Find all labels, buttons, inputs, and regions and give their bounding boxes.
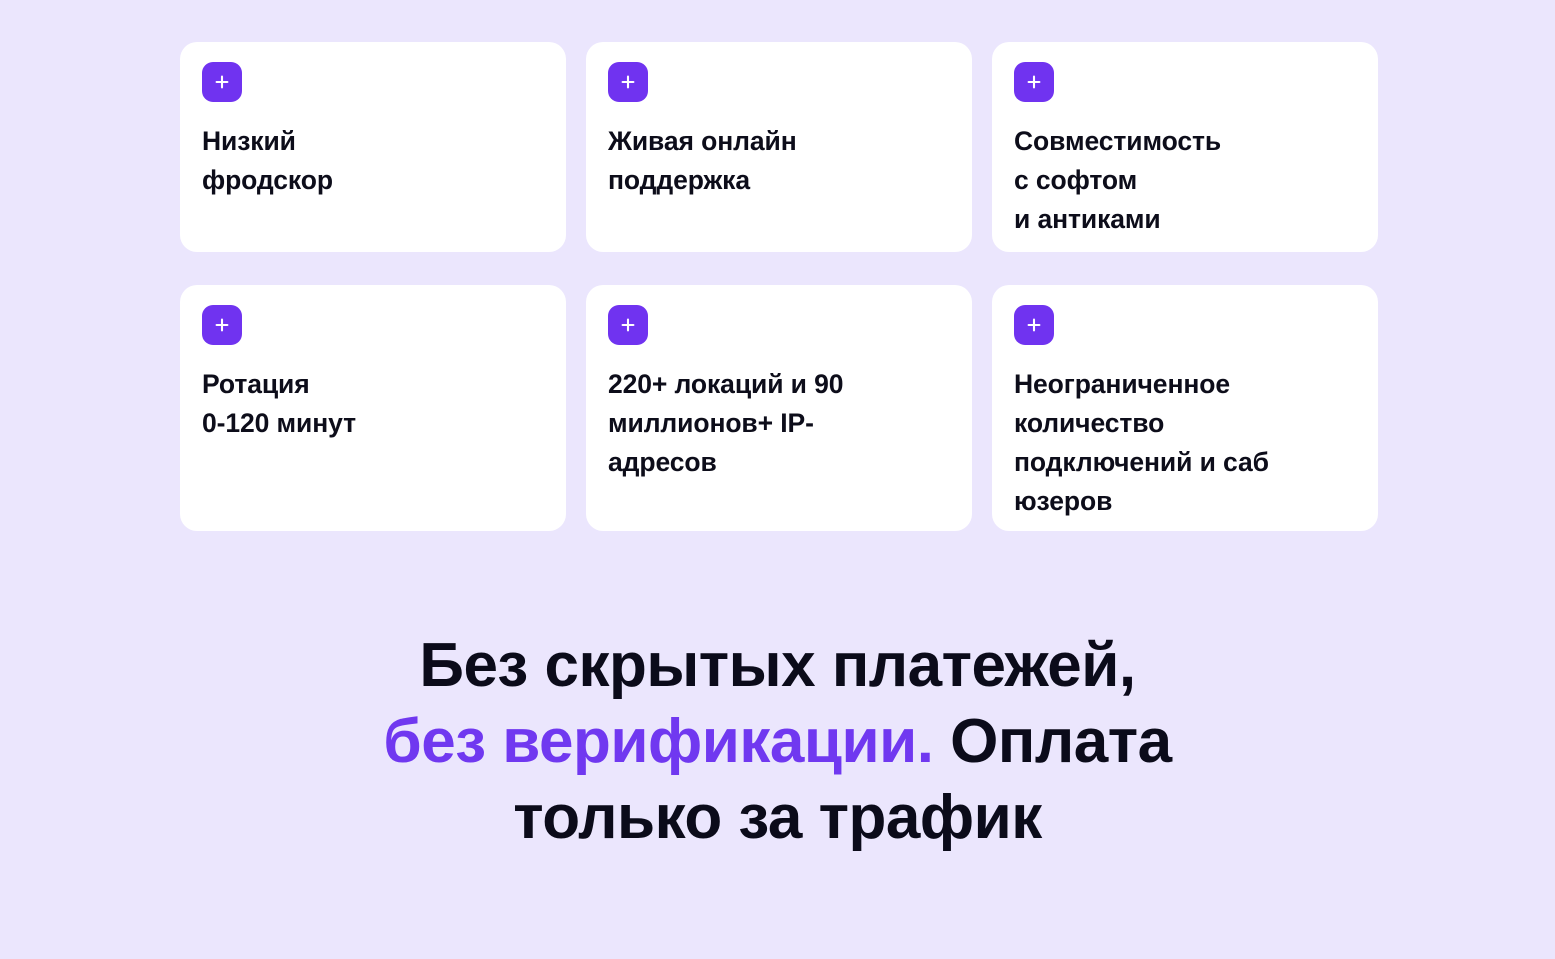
- feature-card-live-online-support[interactable]: Живая онлайн поддержка: [586, 42, 972, 252]
- plus-icon: [202, 62, 242, 102]
- feature-card-rotation[interactable]: Ротация 0-120 минут: [180, 285, 566, 531]
- features-grid: Низкий фродскор Живая онлайн поддержка С…: [180, 42, 1378, 531]
- feature-card-title: 220+ локаций и 90 миллионов+ IP- адресов: [608, 365, 950, 482]
- feature-card-software-compatibility[interactable]: Совместимость с софтом и антиками: [992, 42, 1378, 252]
- plus-icon: [1014, 305, 1054, 345]
- plus-icon: [608, 305, 648, 345]
- feature-card-locations-and-ips[interactable]: 220+ локаций и 90 миллионов+ IP- адресов: [586, 285, 972, 531]
- plus-icon: [202, 305, 242, 345]
- feature-card-title: Низкий фродскор: [202, 122, 544, 200]
- headline-line-2-rest: Оплата: [933, 707, 1171, 776]
- headline-line-1: Без скрытых платежей,: [419, 631, 1135, 700]
- feature-card-title: Неограниченное количество подключений и …: [1014, 365, 1356, 521]
- feature-card-title: Совместимость с софтом и антиками: [1014, 122, 1356, 239]
- feature-card-unlimited-connections[interactable]: Неограниченное количество подключений и …: [992, 285, 1378, 531]
- feature-card-low-fraud-score[interactable]: Низкий фродскор: [180, 42, 566, 252]
- headline-line-3: только за трафик: [513, 783, 1042, 852]
- plus-icon: [1014, 62, 1054, 102]
- section-headline: Без скрытых платежей,без верификации. Оп…: [0, 628, 1555, 856]
- feature-card-title: Живая онлайн поддержка: [608, 122, 950, 200]
- headline-accent-text: без верификации.: [383, 707, 933, 776]
- feature-card-title: Ротация 0-120 минут: [202, 365, 544, 443]
- plus-icon: [608, 62, 648, 102]
